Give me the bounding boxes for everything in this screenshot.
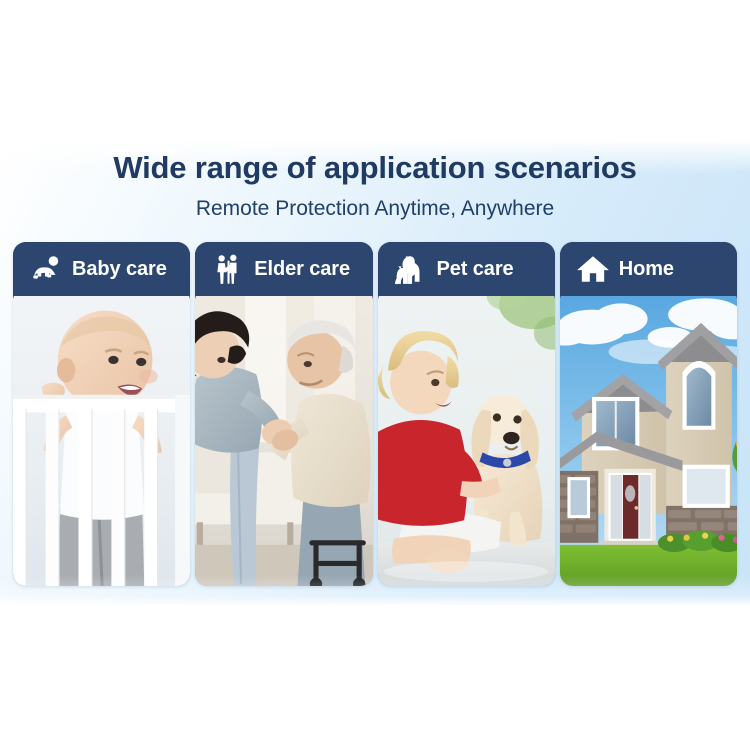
card-label-home: Home bbox=[619, 258, 674, 281]
card-photo-pet-care bbox=[378, 288, 555, 586]
card-photo-home bbox=[560, 288, 737, 586]
card-header-baby-care: Baby care bbox=[13, 242, 190, 296]
card-header-elder-care: Elder care bbox=[195, 242, 372, 296]
scenario-card-home[interactable]: Home bbox=[560, 242, 737, 586]
page-title: Wide range of application scenarios bbox=[0, 150, 750, 186]
card-header-pet-care: Pet care bbox=[378, 242, 555, 296]
card-photo-elder-care bbox=[195, 288, 372, 586]
card-photo-baby-care bbox=[13, 288, 190, 586]
panel-bottom-fade bbox=[0, 575, 750, 605]
scenario-card-baby-care[interactable]: Baby care bbox=[13, 242, 190, 586]
application-scenarios-banner: Wide range of application scenarios Remo… bbox=[0, 0, 750, 750]
scenario-card-list: Baby care bbox=[13, 242, 737, 586]
house-icon bbox=[576, 252, 610, 286]
card-label-pet-care: Pet care bbox=[437, 258, 514, 281]
card-label-baby-care: Baby care bbox=[72, 258, 167, 281]
scenario-card-pet-care[interactable]: Pet care bbox=[378, 242, 555, 586]
card-header-home: Home bbox=[560, 242, 737, 296]
page-subtitle: Remote Protection Anytime, Anywhere bbox=[0, 197, 750, 221]
card-label-elder-care: Elder care bbox=[254, 258, 350, 281]
crawling-baby-icon bbox=[29, 252, 63, 286]
elder-assistance-icon bbox=[211, 252, 245, 286]
dog-and-cat-icon bbox=[394, 252, 428, 286]
scenario-card-elder-care[interactable]: Elder care bbox=[195, 242, 372, 586]
